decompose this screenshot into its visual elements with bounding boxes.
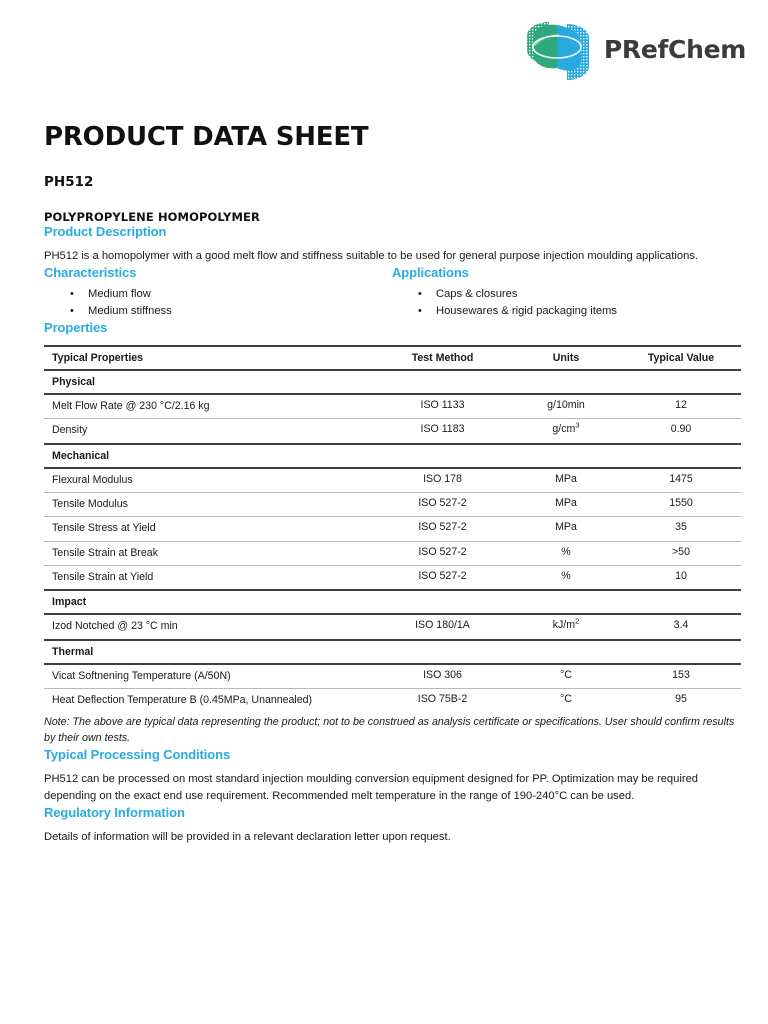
list-item: • Medium flow bbox=[44, 286, 392, 303]
applications-column: Applications • Caps & closures • Housewa… bbox=[392, 265, 741, 320]
cell-test-method: ISO 527-2 bbox=[374, 541, 511, 565]
table-category-row: Thermal bbox=[44, 640, 741, 664]
characteristics-list: • Medium flow • Medium stiffness bbox=[44, 286, 392, 320]
table-row: Tensile Stress at YieldISO 527-2MPa35 bbox=[44, 517, 741, 541]
table-row: Melt Flow Rate @ 230 °C/2.16 kgISO 1133g… bbox=[44, 394, 741, 419]
cell-test-method: ISO 306 bbox=[374, 664, 511, 689]
cell-test-method: ISO 178 bbox=[374, 468, 511, 493]
properties-note: Note: The above are typical data represe… bbox=[44, 714, 741, 747]
table-row: Izod Notched @ 23 °C minISO 180/1AkJ/m23… bbox=[44, 614, 741, 639]
section-heading-properties: Properties bbox=[44, 320, 741, 335]
list-item-label: Medium stiffness bbox=[88, 305, 172, 317]
cell-test-method: ISO 527-2 bbox=[374, 517, 511, 541]
column-header-test-method: Test Method bbox=[374, 346, 511, 370]
bullet-icon: • bbox=[70, 303, 74, 320]
properties-table: Typical Properties Test Method Units Typ… bbox=[44, 345, 741, 713]
cell-test-method: ISO 1133 bbox=[374, 394, 511, 419]
section-heading-product-description: Product Description bbox=[44, 224, 741, 239]
list-item: • Medium stiffness bbox=[44, 303, 392, 320]
cell-test-method: ISO 527-2 bbox=[374, 566, 511, 591]
product-grade: PH512 bbox=[44, 174, 741, 190]
cell-property: Izod Notched @ 23 °C min bbox=[44, 614, 374, 639]
cell-property: Melt Flow Rate @ 230 °C/2.16 kg bbox=[44, 394, 374, 419]
table-row: Tensile Strain at BreakISO 527-2%>50 bbox=[44, 541, 741, 565]
table-row: Heat Deflection Temperature B (0.45MPa, … bbox=[44, 689, 741, 713]
properties-table-body: PhysicalMelt Flow Rate @ 230 °C/2.16 kgI… bbox=[44, 370, 741, 713]
table-row: Tensile Strain at YieldISO 527-2%10 bbox=[44, 566, 741, 591]
characteristics-applications-columns: Characteristics • Medium flow • Medium s… bbox=[44, 265, 741, 320]
column-header-typical-value: Typical Value bbox=[621, 346, 741, 370]
table-category-row: Impact bbox=[44, 590, 741, 614]
cell-typical-value: 35 bbox=[621, 517, 741, 541]
cell-typical-value: 0.90 bbox=[621, 419, 741, 444]
bullet-icon: • bbox=[70, 286, 74, 303]
section-heading-typical-processing-conditions: Typical Processing Conditions bbox=[44, 747, 741, 762]
cell-property: Tensile Strain at Yield bbox=[44, 566, 374, 591]
cell-typical-value: 3.4 bbox=[621, 614, 741, 639]
cell-units: % bbox=[511, 566, 621, 591]
bullet-icon: • bbox=[418, 286, 422, 303]
cell-units: % bbox=[511, 541, 621, 565]
product-family: POLYPROPYLENE HOMOPOLYMER bbox=[44, 210, 741, 224]
table-row: Tensile ModulusISO 527-2MPa1550 bbox=[44, 493, 741, 517]
table-row: Flexural ModulusISO 178MPa1475 bbox=[44, 468, 741, 493]
table-category-row: Physical bbox=[44, 370, 741, 394]
cell-units: kJ/m2 bbox=[511, 614, 621, 639]
bullet-icon: • bbox=[418, 303, 422, 320]
cell-typical-value: 10 bbox=[621, 566, 741, 591]
list-item: • Caps & closures bbox=[392, 286, 741, 303]
cell-test-method: ISO 75B-2 bbox=[374, 689, 511, 713]
product-description-text: PH512 is a homopolymer with a good melt … bbox=[44, 248, 741, 265]
cell-units: °C bbox=[511, 664, 621, 689]
cell-typical-value: >50 bbox=[621, 541, 741, 565]
cell-property: Tensile Modulus bbox=[44, 493, 374, 517]
cell-typical-value: 1475 bbox=[621, 468, 741, 493]
table-category-row: Mechanical bbox=[44, 444, 741, 468]
table-category-label: Mechanical bbox=[44, 444, 741, 468]
cell-property: Density bbox=[44, 419, 374, 444]
table-row: DensityISO 1183g/cm30.90 bbox=[44, 419, 741, 444]
cell-test-method: ISO 1183 bbox=[374, 419, 511, 444]
page-title: PRODUCT DATA SHEET bbox=[44, 0, 741, 152]
table-row: Vicat Softnening Temperature (A/50N)ISO … bbox=[44, 664, 741, 689]
cell-units: °C bbox=[511, 689, 621, 713]
cell-typical-value: 153 bbox=[621, 664, 741, 689]
column-header-units: Units bbox=[511, 346, 621, 370]
cell-test-method: ISO 180/1A bbox=[374, 614, 511, 639]
cell-property: Tensile Stress at Yield bbox=[44, 517, 374, 541]
column-header-typical-properties: Typical Properties bbox=[44, 346, 374, 370]
section-heading-characteristics: Characteristics bbox=[44, 265, 392, 280]
section-heading-regulatory-information: Regulatory Information bbox=[44, 805, 741, 820]
cell-typical-value: 1550 bbox=[621, 493, 741, 517]
cell-test-method: ISO 527-2 bbox=[374, 493, 511, 517]
cell-units: g/10min bbox=[511, 394, 621, 419]
table-category-label: Physical bbox=[44, 370, 741, 394]
cell-property: Tensile Strain at Break bbox=[44, 541, 374, 565]
document-body: PRODUCT DATA SHEET PH512 POLYPROPYLENE H… bbox=[44, 0, 741, 847]
cell-units: g/cm3 bbox=[511, 419, 621, 444]
cell-property: Heat Deflection Temperature B (0.45MPa, … bbox=[44, 689, 374, 713]
cell-typical-value: 95 bbox=[621, 689, 741, 713]
cell-property: Flexural Modulus bbox=[44, 468, 374, 493]
cell-units: MPa bbox=[511, 493, 621, 517]
processing-conditions-text: PH512 can be processed on most standard … bbox=[44, 771, 741, 806]
list-item-label: Medium flow bbox=[88, 288, 151, 300]
cell-units: MPa bbox=[511, 468, 621, 493]
applications-list: • Caps & closures • Housewares & rigid p… bbox=[392, 286, 741, 320]
cell-units: MPa bbox=[511, 517, 621, 541]
list-item-label: Housewares & rigid packaging items bbox=[436, 305, 617, 317]
cell-typical-value: 12 bbox=[621, 394, 741, 419]
table-category-label: Impact bbox=[44, 590, 741, 614]
table-category-label: Thermal bbox=[44, 640, 741, 664]
table-header-row: Typical Properties Test Method Units Typ… bbox=[44, 346, 741, 370]
list-item: • Housewares & rigid packaging items bbox=[392, 303, 741, 320]
cell-property: Vicat Softnening Temperature (A/50N) bbox=[44, 664, 374, 689]
section-heading-applications: Applications bbox=[392, 265, 741, 280]
characteristics-column: Characteristics • Medium flow • Medium s… bbox=[44, 265, 392, 320]
list-item-label: Caps & closures bbox=[436, 288, 517, 300]
regulatory-information-text: Details of information will be provided … bbox=[44, 829, 741, 846]
